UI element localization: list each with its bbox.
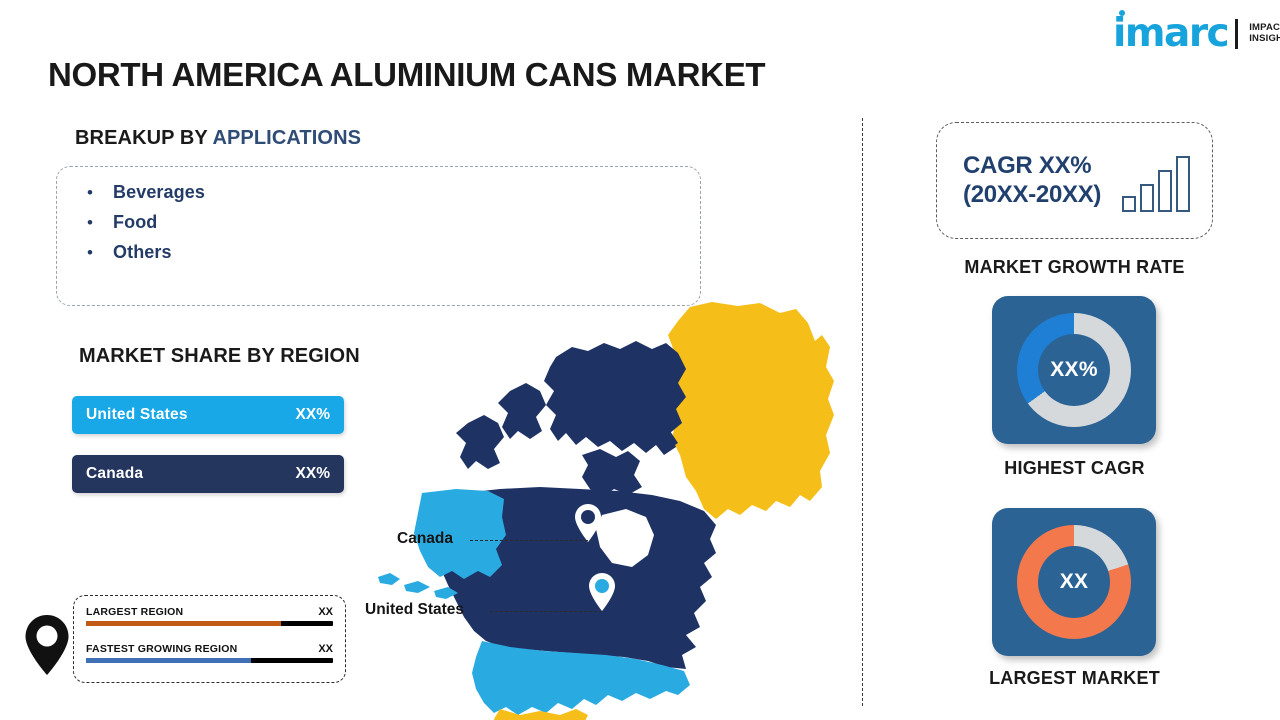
logo-tagline-line1: IMPACTFUL	[1249, 23, 1280, 34]
applications-heading-prefix: BREAKUP BY	[75, 127, 212, 149]
region-bar-united-states: United States XX%	[72, 396, 344, 434]
legend-row-fastest-growing-region: FASTEST GROWING REGION XX	[86, 643, 333, 663]
location-pin-icon	[587, 572, 617, 612]
largest-market-card: XX	[992, 508, 1156, 656]
legend-row-largest-region: LARGEST REGION XX	[86, 606, 333, 626]
region-name: United States	[86, 406, 188, 424]
applications-heading: BREAKUP BY APPLICATIONS	[75, 127, 361, 150]
legend-progress-fill	[86, 621, 281, 626]
region-bar-canada: Canada XX%	[72, 455, 344, 493]
list-item: • Food	[87, 207, 205, 237]
map-region-canada-arctic	[456, 341, 686, 497]
region-value: XX%	[296, 465, 330, 483]
legend-progress-track	[86, 621, 333, 626]
map-leader-line-canada	[470, 540, 588, 541]
imarc-logo: imarc IMPACTFUL INSIGHTS	[1113, 14, 1280, 53]
region-name: Canada	[86, 465, 143, 483]
map-svg	[360, 295, 860, 720]
logo-divider	[1235, 19, 1238, 49]
application-label: Beverages	[113, 182, 205, 203]
region-share-heading: MARKET SHARE BY REGION	[79, 345, 360, 368]
legend-label: FASTEST GROWING REGION	[86, 643, 237, 655]
logo-dot-icon	[1119, 10, 1125, 16]
applications-list: • Beverages • Food • Others	[87, 177, 205, 267]
donut-center: XX%	[1038, 334, 1110, 406]
map-leader-line-united-states	[490, 611, 602, 612]
donut-value: XX	[1060, 570, 1089, 594]
applications-heading-accent: APPLICATIONS	[212, 127, 361, 149]
region-legend-box: LARGEST REGION XX FASTEST GROWING REGION…	[73, 595, 346, 683]
cagr-line1: CAGR XX%	[963, 152, 1101, 180]
application-label: Others	[113, 242, 172, 263]
legend-progress-track	[86, 658, 333, 663]
map-region-greenland	[666, 302, 834, 519]
list-item: • Others	[87, 237, 205, 267]
logo-tagline-line2: INSIGHTS	[1249, 34, 1280, 45]
ascending-bar-chart-icon	[1122, 156, 1190, 212]
highest-cagr-card: XX%	[992, 296, 1156, 444]
cagr-line2: (20XX-20XX)	[963, 181, 1101, 209]
market-growth-rate-caption: MARKET GROWTH RATE	[936, 257, 1213, 278]
application-label: Food	[113, 212, 157, 233]
donut-chart-highest-cagr: XX%	[1017, 313, 1131, 427]
legend-value: XX	[318, 643, 333, 655]
largest-market-caption: LARGEST MARKET	[936, 668, 1213, 689]
list-item: • Beverages	[87, 177, 205, 207]
vertical-divider	[862, 118, 863, 706]
location-pin-icon	[573, 503, 603, 543]
map-label-canada: Canada	[397, 530, 453, 548]
legend-label: LARGEST REGION	[86, 606, 183, 618]
cagr-box: CAGR XX% (20XX-20XX)	[936, 122, 1213, 239]
bullet-icon: •	[87, 184, 113, 201]
donut-chart-largest-market: XX	[1017, 525, 1131, 639]
donut-value: XX%	[1050, 358, 1098, 382]
donut-center: XX	[1038, 546, 1110, 618]
cagr-text: CAGR XX% (20XX-20XX)	[963, 152, 1101, 209]
logo-wordmark: imarc	[1113, 14, 1228, 53]
map-label-united-states: United States	[365, 601, 464, 619]
applications-box: • Beverages • Food • Others	[56, 166, 701, 306]
infographic-canvas: imarc IMPACTFUL INSIGHTS NORTH AMERICA A…	[0, 0, 1280, 720]
logo-tagline: IMPACTFUL INSIGHTS	[1249, 23, 1280, 45]
map-pin-icon	[22, 613, 72, 677]
north-america-map	[360, 295, 860, 720]
bullet-icon: •	[87, 214, 113, 231]
region-value: XX%	[296, 406, 330, 424]
highest-cagr-caption: HIGHEST CAGR	[936, 458, 1213, 479]
bullet-icon: •	[87, 244, 113, 261]
legend-progress-fill	[86, 658, 251, 663]
legend-value: XX	[318, 606, 333, 618]
page-title: NORTH AMERICA ALUMINIUM CANS MARKET	[48, 56, 765, 94]
